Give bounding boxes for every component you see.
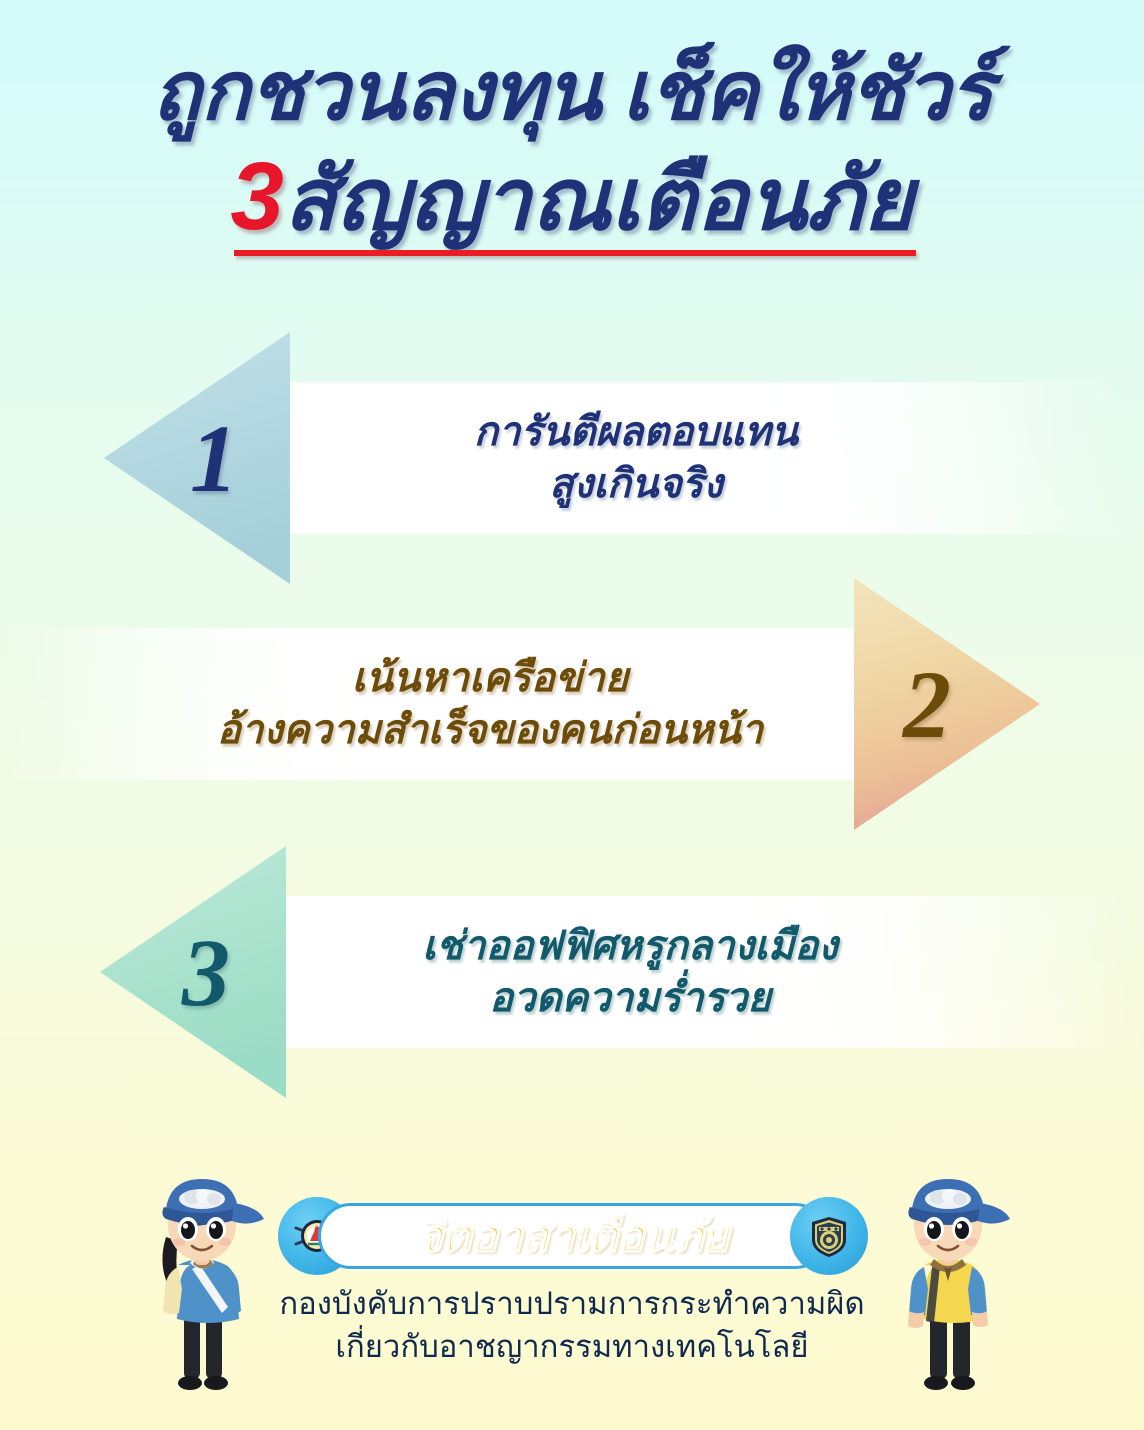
title-line-1: ถูกชวนลงทุน เช็คให้ชัวร์ <box>0 44 1144 141</box>
row-3-text: เช่าออฟฟิศหรูกลางเมือง อวดความร่ำรวย <box>270 896 990 1048</box>
row-3-triangle-left-icon <box>100 846 286 1098</box>
row-1-text: การันตีผลตอบแทน สูงเกินจริง <box>276 382 996 534</box>
row-1-triangle-left-icon <box>104 332 290 584</box>
organization-name: กองบังคับการปราบปรามการกระทำความผิด เกี่… <box>0 1283 1144 1369</box>
title-line-2: 3สัญญาณเตือนภัย <box>230 143 913 251</box>
row-2-line-2: อ้างความสำเร็จของคนก่อนหน้า <box>217 704 763 756</box>
volunteer-banner: จิตอาสาเตือนภัย <box>278 1197 868 1275</box>
title-underline <box>234 250 915 256</box>
footer: จิตอาสาเตือนภัย <box>0 1145 1144 1405</box>
title-highlight-number: 3 <box>230 143 283 250</box>
organization-line-2: เกี่ยวกับอาชญากรรมทางเทคโนโลยี <box>0 1326 1144 1369</box>
title-line-2-text: สัญญาณเตือนภัย <box>284 152 914 248</box>
row-1-line-1: การันตีผลตอบแทน <box>474 406 798 458</box>
poster-title: ถูกชวนลงทุน เช็คให้ชัวร์ 3สัญญาณเตือนภัย <box>0 44 1144 262</box>
row-2-triangle-right-icon <box>854 578 1040 830</box>
row-2-text: เน้นหาเครือข่าย อ้างความสำเร็จของคนก่อนห… <box>120 628 860 780</box>
organization-line-1: กองบังคับการปราบปรามการกระทำความผิด <box>0 1283 1144 1326</box>
row-2-line-1: เน้นหาเครือข่าย <box>352 652 628 704</box>
infographic-poster: ถูกชวนลงทุน เช็คให้ชัวร์ 3สัญญาณเตือนภัย… <box>0 0 1144 1430</box>
royal-thai-police-shield-icon <box>790 1197 868 1275</box>
banner-pill: จิตอาสาเตือนภัย <box>318 1203 828 1269</box>
title-line-2-wrapper: 3สัญญาณเตือนภัย <box>230 143 913 263</box>
row-3-line-2: อวดความร่ำรวย <box>489 972 771 1024</box>
row-1-line-2: สูงเกินจริง <box>549 458 723 510</box>
row-3-line-1: เช่าออฟฟิศหรูกลางเมือง <box>422 920 838 972</box>
banner-label: จิตอาสาเตือนภัย <box>417 1201 729 1271</box>
